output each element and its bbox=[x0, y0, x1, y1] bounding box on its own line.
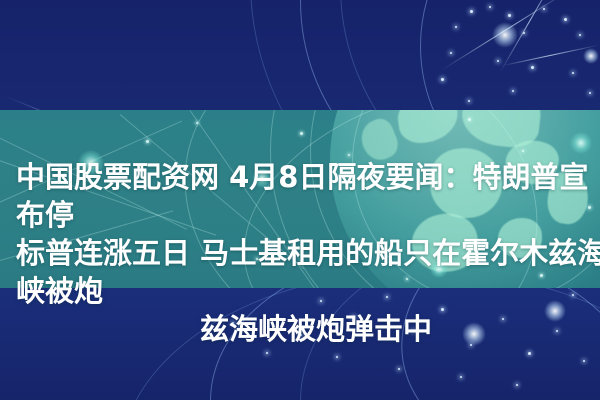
particle-dot bbox=[266, 352, 268, 354]
particle-dot bbox=[512, 90, 514, 92]
particle-dot bbox=[300, 334, 302, 336]
particle-dot bbox=[441, 308, 444, 311]
particle-dot bbox=[556, 330, 558, 332]
particle-dot bbox=[470, 344, 472, 346]
node-dot bbox=[300, 132, 303, 135]
particle-dot bbox=[572, 72, 574, 74]
node-dot bbox=[540, 274, 543, 277]
particle-dot bbox=[460, 376, 462, 378]
particle-dot bbox=[497, 60, 499, 62]
glow-point bbox=[583, 48, 599, 64]
particle-dot bbox=[320, 300, 322, 302]
particle-dot bbox=[412, 330, 414, 332]
glow-node bbox=[252, 168, 272, 188]
particle-dot bbox=[398, 368, 400, 370]
particle-dot bbox=[450, 52, 452, 54]
node-dot bbox=[196, 122, 198, 124]
particle-dot bbox=[516, 384, 518, 386]
particle-dot bbox=[543, 8, 545, 10]
glow-node bbox=[78, 150, 104, 176]
glow-point bbox=[492, 22, 518, 48]
particle-dot bbox=[572, 294, 574, 296]
particle-dot bbox=[468, 100, 470, 102]
particle-dot bbox=[564, 18, 567, 21]
particle-dot bbox=[352, 316, 355, 319]
particle-dot bbox=[336, 356, 338, 358]
particle-dot bbox=[489, 6, 491, 8]
node-dot bbox=[348, 154, 350, 156]
diagonal-line bbox=[0, 210, 173, 261]
node-dot bbox=[256, 258, 258, 260]
particle-dot bbox=[531, 66, 534, 69]
particle-dot bbox=[386, 296, 388, 298]
particle-dot bbox=[589, 92, 591, 94]
node-dot bbox=[146, 140, 149, 143]
teal-banner-band bbox=[0, 110, 600, 288]
particle-dot bbox=[455, 26, 457, 28]
news-banner: 中国股票配资网 4月8日隔夜要闻：特朗普宣布停 标普连涨五日 马士基租用的船只在… bbox=[0, 0, 600, 400]
node-dot bbox=[522, 150, 524, 152]
glow-node bbox=[570, 132, 592, 154]
particle-dot bbox=[441, 78, 444, 81]
particle-dot bbox=[502, 318, 504, 320]
node-dot bbox=[406, 278, 408, 280]
particle-dot bbox=[579, 34, 581, 36]
particle-dot bbox=[523, 32, 525, 34]
particle-dot bbox=[470, 10, 473, 13]
node-dot bbox=[468, 118, 471, 121]
particle-dot bbox=[528, 352, 531, 355]
node-dot bbox=[588, 206, 591, 209]
diagonal-line bbox=[0, 150, 216, 236]
glow-point bbox=[462, 322, 486, 346]
particle-dot bbox=[508, 14, 511, 17]
glow-point bbox=[544, 300, 566, 322]
orbit-arc bbox=[120, 270, 600, 400]
particle-dot bbox=[583, 360, 585, 362]
particle-dot bbox=[232, 322, 234, 324]
glow-node bbox=[430, 260, 448, 278]
